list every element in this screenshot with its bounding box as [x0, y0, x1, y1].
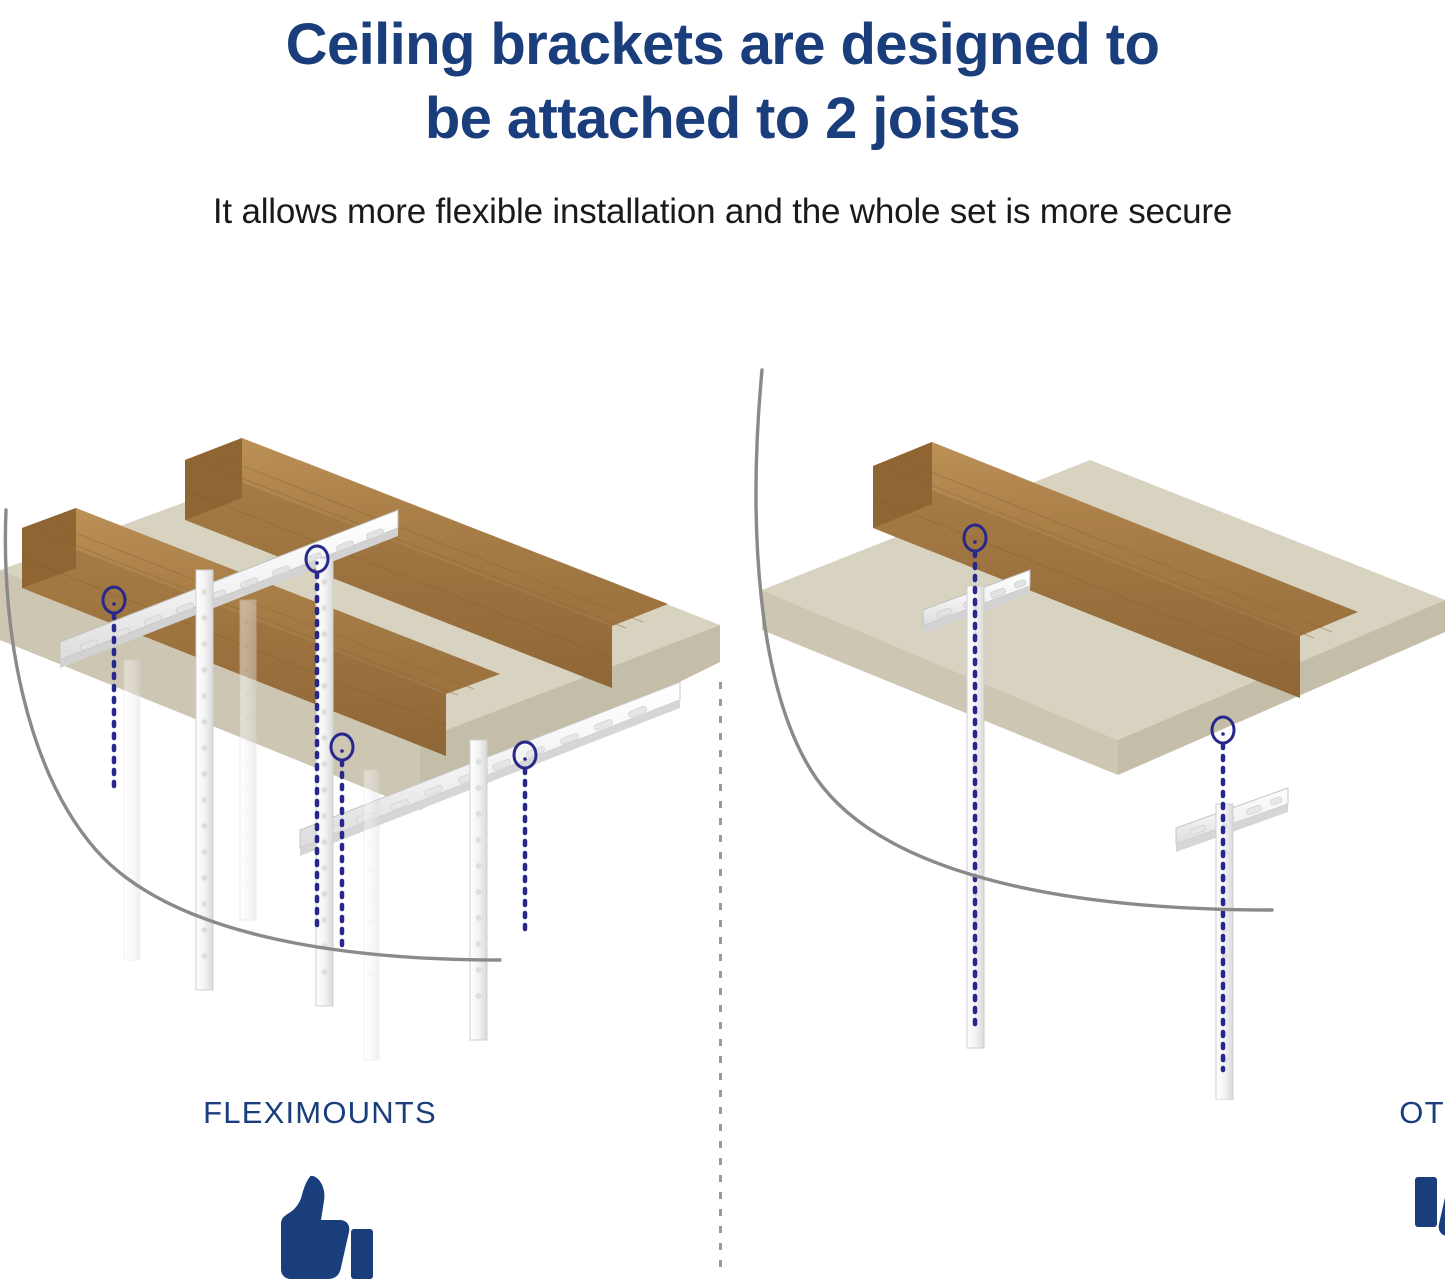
panel-divider	[719, 682, 722, 1272]
vertical-post-3	[470, 740, 487, 1040]
page-title-line-2: be attached to 2 joists	[0, 82, 1445, 156]
comparison-stage: FLEXIMOUNTS	[0, 270, 1445, 1277]
verdict-fleximounts	[0, 1170, 680, 1286]
thumbs-up-icon	[266, 1170, 374, 1286]
brand-label-others: OTHERS	[1105, 1095, 1445, 1131]
page-subtitle: It allows more flexible installation and…	[0, 190, 1445, 234]
fleximounts-illustration	[0, 270, 720, 1100]
vertical-post-ghost-3	[364, 770, 379, 1060]
page-title: Ceiling brackets are designed to be atta…	[0, 8, 1445, 156]
comparison-panel-fleximounts: FLEXIMOUNTS	[0, 270, 720, 1277]
vertical-post-ghost-1	[124, 660, 140, 960]
verdict-others	[1105, 1170, 1445, 1286]
comparison-panel-others: OTHERS	[720, 270, 1445, 1277]
header: Ceiling brackets are designed to be atta…	[0, 0, 1445, 270]
vertical-post-ghost-2	[240, 600, 256, 920]
vertical-post-1	[196, 570, 213, 990]
page-title-line-1: Ceiling brackets are designed to	[0, 8, 1445, 82]
others-illustration	[720, 270, 1445, 1100]
brand-label-fleximounts: FLEXIMOUNTS	[0, 1095, 680, 1131]
thumbs-down-icon	[1414, 1170, 1445, 1286]
